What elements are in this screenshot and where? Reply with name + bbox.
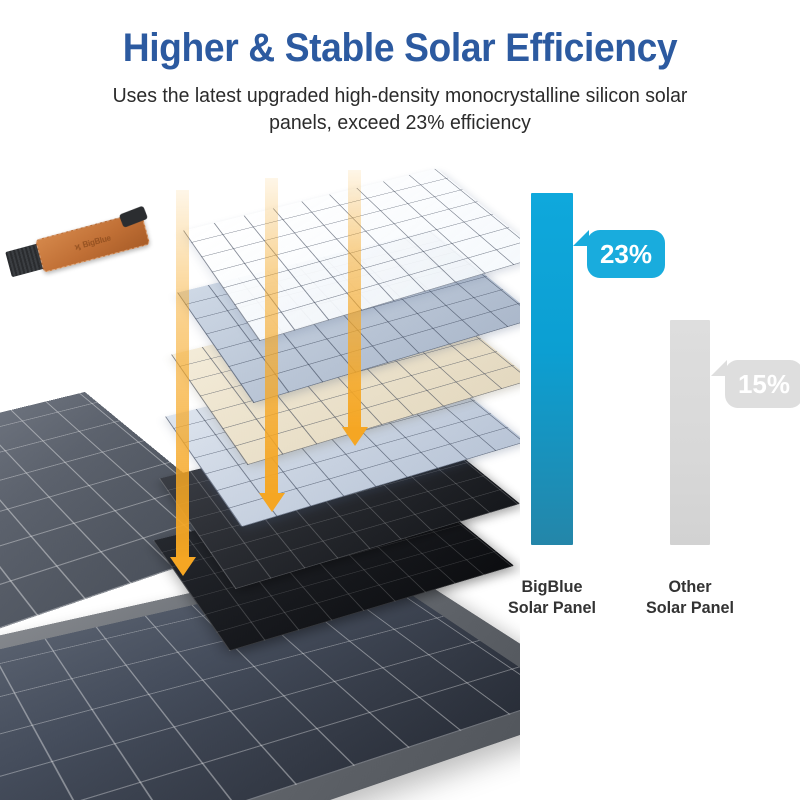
axis-label-other-line2: Solar Panel <box>619 598 762 618</box>
brand-logo-mark: ϗ <box>74 241 81 251</box>
page-title: Higher & Stable Solar Efficiency <box>28 28 772 68</box>
value-callout-other: 15% <box>725 360 800 408</box>
subtitle-line-1: Uses the latest upgraded high-density mo… <box>87 82 714 109</box>
sunlight-arrow-icon <box>176 190 189 560</box>
arrow-head-icon <box>259 493 285 512</box>
axis-label-other-line1: Other <box>619 577 762 597</box>
arrow-head-icon <box>170 557 196 576</box>
value-callout-bigblue: 23% <box>587 230 665 278</box>
axis-label-bigblue: BigBlue Solar Panel <box>481 577 624 618</box>
arrow-head-icon <box>342 427 368 446</box>
bar-other-solar-panel <box>670 320 710 545</box>
bar-bigblue-solar-panel <box>531 193 573 545</box>
value-label-bigblue: 23% <box>600 239 652 270</box>
sunlight-arrow-icon <box>265 178 278 496</box>
solar-panel-exploded-illustration: ϗ BigBlue <box>0 150 520 800</box>
header: Higher & Stable Solar Efficiency Uses th… <box>0 0 800 137</box>
product-infographic: Higher & Stable Solar Efficiency Uses th… <box>0 0 800 800</box>
subtitle-line-2: panels, exceed 23% efficiency <box>87 109 714 136</box>
brand-strap: ϗ BigBlue <box>16 212 148 278</box>
value-label-other: 15% <box>738 369 790 400</box>
page-subtitle: Uses the latest upgraded high-density mo… <box>87 82 714 137</box>
axis-label-bigblue-line2: Solar Panel <box>481 598 624 618</box>
axis-label-other: Other Solar Panel <box>619 577 762 618</box>
efficiency-bar-chart: 23% 15% BigBlue Solar Panel Other Solar … <box>480 180 800 660</box>
axis-label-bigblue-line1: BigBlue <box>481 577 624 597</box>
brand-name-label: BigBlue <box>81 233 111 249</box>
sunlight-arrow-icon <box>348 170 361 430</box>
